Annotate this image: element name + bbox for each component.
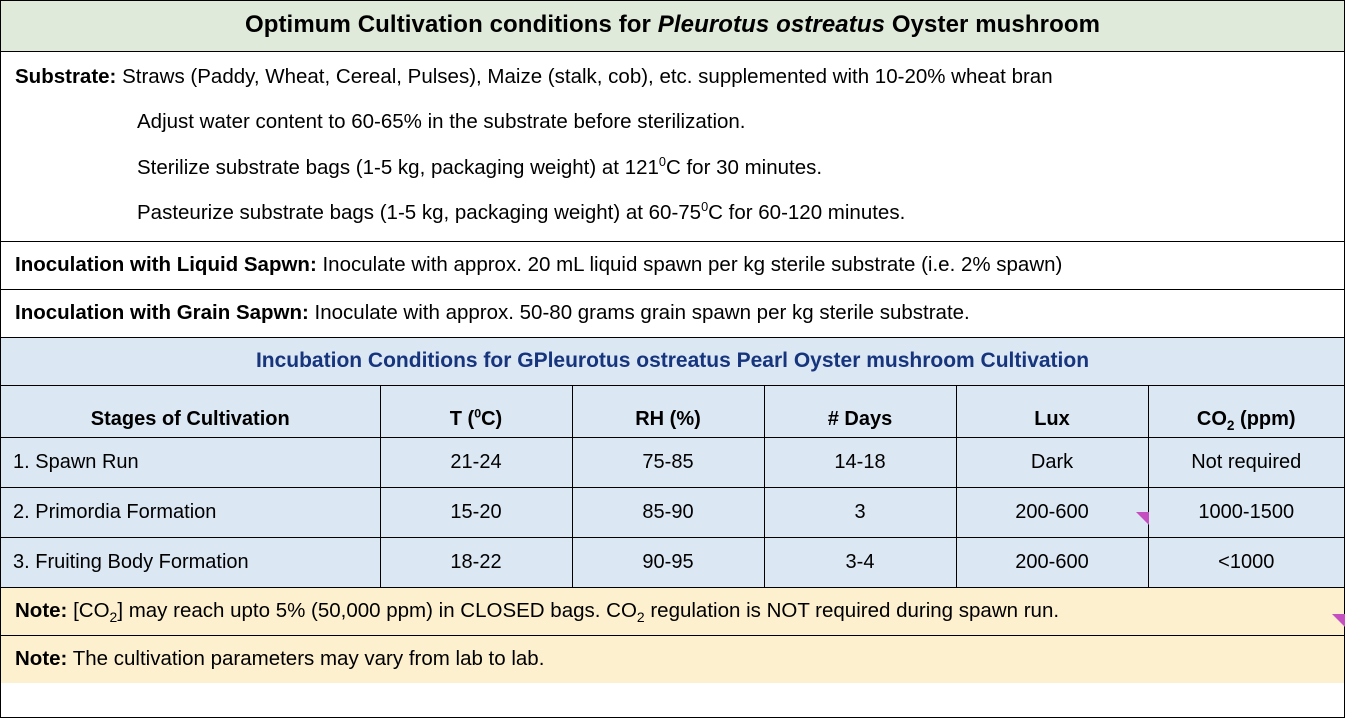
document-title: Optimum Cultivation conditions for Pleur…: [1, 1, 1344, 52]
cell-relative-humidity: 75-85: [572, 438, 764, 488]
note-co2-regulation: Note: [CO2] may reach upto 5% (50,000 pp…: [1, 588, 1344, 636]
note-parameters-vary: Note: The cultivation parameters may var…: [1, 636, 1344, 683]
table-row: 3. Fruiting Body Formation 18-22 90-95 3…: [1, 538, 1344, 588]
note1-part-b: ] may reach upto 5% (50,000 ppm) in CLOS…: [117, 599, 637, 622]
incubation-conditions-header: Incubation Conditions for GPleurotus ost…: [1, 338, 1344, 386]
degree-superscript: 0: [659, 154, 666, 169]
note-label: Note:: [15, 599, 67, 622]
note2-text: The cultivation parameters may vary from…: [67, 647, 544, 670]
cell-days: 3-4: [764, 538, 956, 588]
substrate-line-1: Substrate: Straws (Paddy, Wheat, Cereal,…: [1, 63, 1344, 90]
co2-header-b: (ppm): [1234, 408, 1295, 430]
inoculation-liquid-spawn-row: Inoculation with Liquid Sapwn: Inoculate…: [1, 242, 1344, 290]
column-header-co2: CO2 (ppm): [1148, 386, 1344, 438]
column-header-relative-humidity: RH (%): [572, 386, 764, 438]
table-row: 2. Primordia Formation 15-20 85-90 3 200…: [1, 488, 1344, 538]
inoculation-liquid-text: Inoculate with approx. 20 mL liquid spaw…: [317, 253, 1063, 276]
cell-stage: 2. Primordia Formation: [1, 488, 380, 538]
table-header-row: Stages of Cultivation T (0C) RH (%) # Da…: [1, 386, 1344, 438]
subscript-two: 2: [637, 609, 645, 625]
substrate-section: Substrate: Straws (Paddy, Wheat, Cereal,…: [1, 52, 1344, 242]
column-header-stage: Stages of Cultivation: [1, 386, 380, 438]
cell-temperature: 21-24: [380, 438, 572, 488]
cell-days: 3: [764, 488, 956, 538]
note1-part-a: [CO: [67, 599, 109, 622]
incubation-conditions-table: Stages of Cultivation T (0C) RH (%) # Da…: [1, 386, 1344, 589]
title-suffix: Oyster mushroom: [885, 11, 1100, 38]
cell-lux: 200-600: [956, 538, 1148, 588]
cell-lux: 200-600: [956, 488, 1148, 538]
co2-header-a: CO: [1197, 408, 1227, 430]
inoculation-grain-label: Inoculation with Grain Sapwn:: [15, 301, 309, 324]
cell-stage: 1. Spawn Run: [1, 438, 380, 488]
cell-temperature: 15-20: [380, 488, 572, 538]
substrate-line-4-a: Pasteurize substrate bags (1-5 kg, packa…: [137, 201, 701, 224]
cell-stage: 3. Fruiting Body Formation: [1, 538, 380, 588]
cell-days: 14-18: [764, 438, 956, 488]
column-header-lux: Lux: [956, 386, 1148, 438]
substrate-line-3-b: C for 30 minutes.: [666, 156, 822, 179]
cell-relative-humidity: 90-95: [572, 538, 764, 588]
cell-lux: Dark: [956, 438, 1148, 488]
column-header-days: # Days: [764, 386, 956, 438]
temp-header-a: T (: [450, 408, 474, 430]
inoculation-grain-spawn-row: Inoculation with Grain Sapwn: Inoculate …: [1, 290, 1344, 338]
cell-co2: <1000: [1148, 538, 1344, 588]
column-header-temperature: T (0C): [380, 386, 572, 438]
substrate-line-3-a: Sterilize substrate bags (1-5 kg, packag…: [137, 156, 659, 179]
table-row: 1. Spawn Run 21-24 75-85 14-18 Dark Not …: [1, 438, 1344, 488]
cell-temperature: 18-22: [380, 538, 572, 588]
inoculation-grain-text: Inoculate with approx. 50-80 grams grain…: [309, 301, 970, 324]
note1-part-c: regulation is NOT required during spawn …: [645, 599, 1059, 622]
substrate-line-2: Adjust water content to 60-65% in the su…: [1, 108, 1344, 135]
substrate-label: Substrate:: [15, 65, 116, 88]
inoculation-liquid-label: Inoculation with Liquid Sapwn:: [15, 253, 317, 276]
cultivation-conditions-document: Optimum Cultivation conditions for Pleur…: [0, 0, 1345, 718]
title-prefix: Optimum Cultivation conditions for: [245, 11, 658, 38]
substrate-line-3: Sterilize substrate bags (1-5 kg, packag…: [1, 154, 1344, 181]
substrate-line-4: Pasteurize substrate bags (1-5 kg, packa…: [1, 199, 1344, 226]
cell-relative-humidity: 85-90: [572, 488, 764, 538]
substrate-line-4-b: C for 60-120 minutes.: [708, 201, 905, 224]
cell-co2: 1000-1500: [1148, 488, 1344, 538]
substrate-line-1-text: Straws (Paddy, Wheat, Cereal, Pulses), M…: [116, 65, 1052, 88]
cell-co2: Not required: [1148, 438, 1344, 488]
note-label: Note:: [15, 647, 67, 670]
title-species-name: Pleurotus ostreatus: [658, 11, 885, 38]
temp-header-b: C): [481, 408, 502, 430]
